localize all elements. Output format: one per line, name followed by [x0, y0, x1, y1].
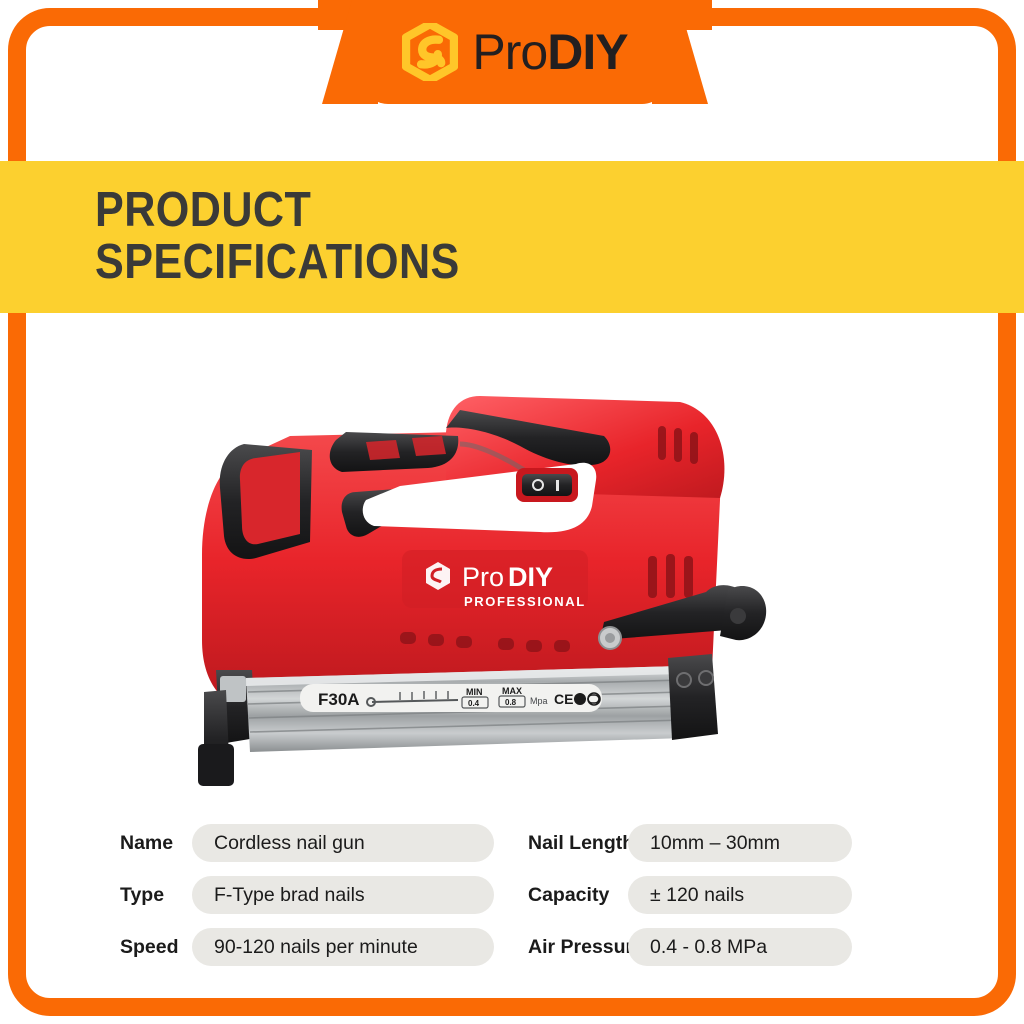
svg-text:CE: CE	[554, 691, 573, 707]
spec-value-capacity: ± 120 nails	[628, 876, 852, 914]
page-title-line-1: PRODUCT	[95, 185, 913, 237]
page-title-line-2: SPECIFICATIONS	[95, 237, 913, 289]
spec-value-speed: 90-120 nails per minute	[192, 928, 494, 966]
spec-value-speed-wrap: 90-120 nails per minute	[192, 928, 510, 966]
svg-text:DIY: DIY	[508, 562, 553, 592]
spec-label-air-pressure: Air Pressure	[510, 936, 628, 959]
svg-text:PROFESSIONAL: PROFESSIONAL	[464, 594, 586, 609]
svg-text:MAX: MAX	[502, 686, 522, 696]
brand-name-diy: DIY	[547, 24, 627, 80]
brand-name-pro: Pro	[472, 24, 547, 80]
spec-value-air-pressure: 0.4 - 0.8 MPa	[628, 928, 852, 966]
page-title-banner: PRODUCT SPECIFICATIONS	[0, 161, 1024, 313]
svg-text:F30A: F30A	[318, 690, 360, 709]
specifications-table: Name Cordless nail gun Nail Length 10mm …	[120, 824, 910, 966]
brand-wordmark: ProDIY	[472, 27, 627, 77]
product-image: Pro DIY PROFESSIONAL F30A MIN	[160, 340, 860, 810]
spec-label-nail-length: Nail Length	[510, 832, 628, 855]
spec-value-type-wrap: F-Type brad nails	[192, 876, 510, 914]
spec-label-type: Type	[120, 884, 192, 907]
svg-text:0.4: 0.4	[468, 699, 480, 708]
spec-value-name: Cordless nail gun	[192, 824, 494, 862]
spec-label-capacity: Capacity	[510, 884, 628, 907]
spec-value-nail-length: 10mm – 30mm	[628, 824, 852, 862]
svg-text:Mpa: Mpa	[530, 696, 548, 706]
spec-value-air-pressure-wrap: 0.4 - 0.8 MPa	[628, 928, 852, 966]
hexagon-swirl-icon	[402, 23, 458, 81]
svg-text:0.8: 0.8	[505, 698, 517, 707]
svg-text:Pro: Pro	[462, 562, 504, 592]
brand-header-tab: ProDIY	[362, 0, 668, 104]
spec-value-type: F-Type brad nails	[192, 876, 494, 914]
svg-text:MIN: MIN	[466, 687, 483, 697]
spec-label-name: Name	[120, 832, 192, 855]
spec-label-speed: Speed	[120, 936, 192, 959]
spec-value-name-wrap: Cordless nail gun	[192, 824, 510, 862]
spec-value-nail-length-wrap: 10mm – 30mm	[628, 824, 852, 862]
spec-value-capacity-wrap: ± 120 nails	[628, 876, 852, 914]
cordless-nail-gun-illustration: Pro DIY PROFESSIONAL F30A MIN	[160, 340, 860, 810]
